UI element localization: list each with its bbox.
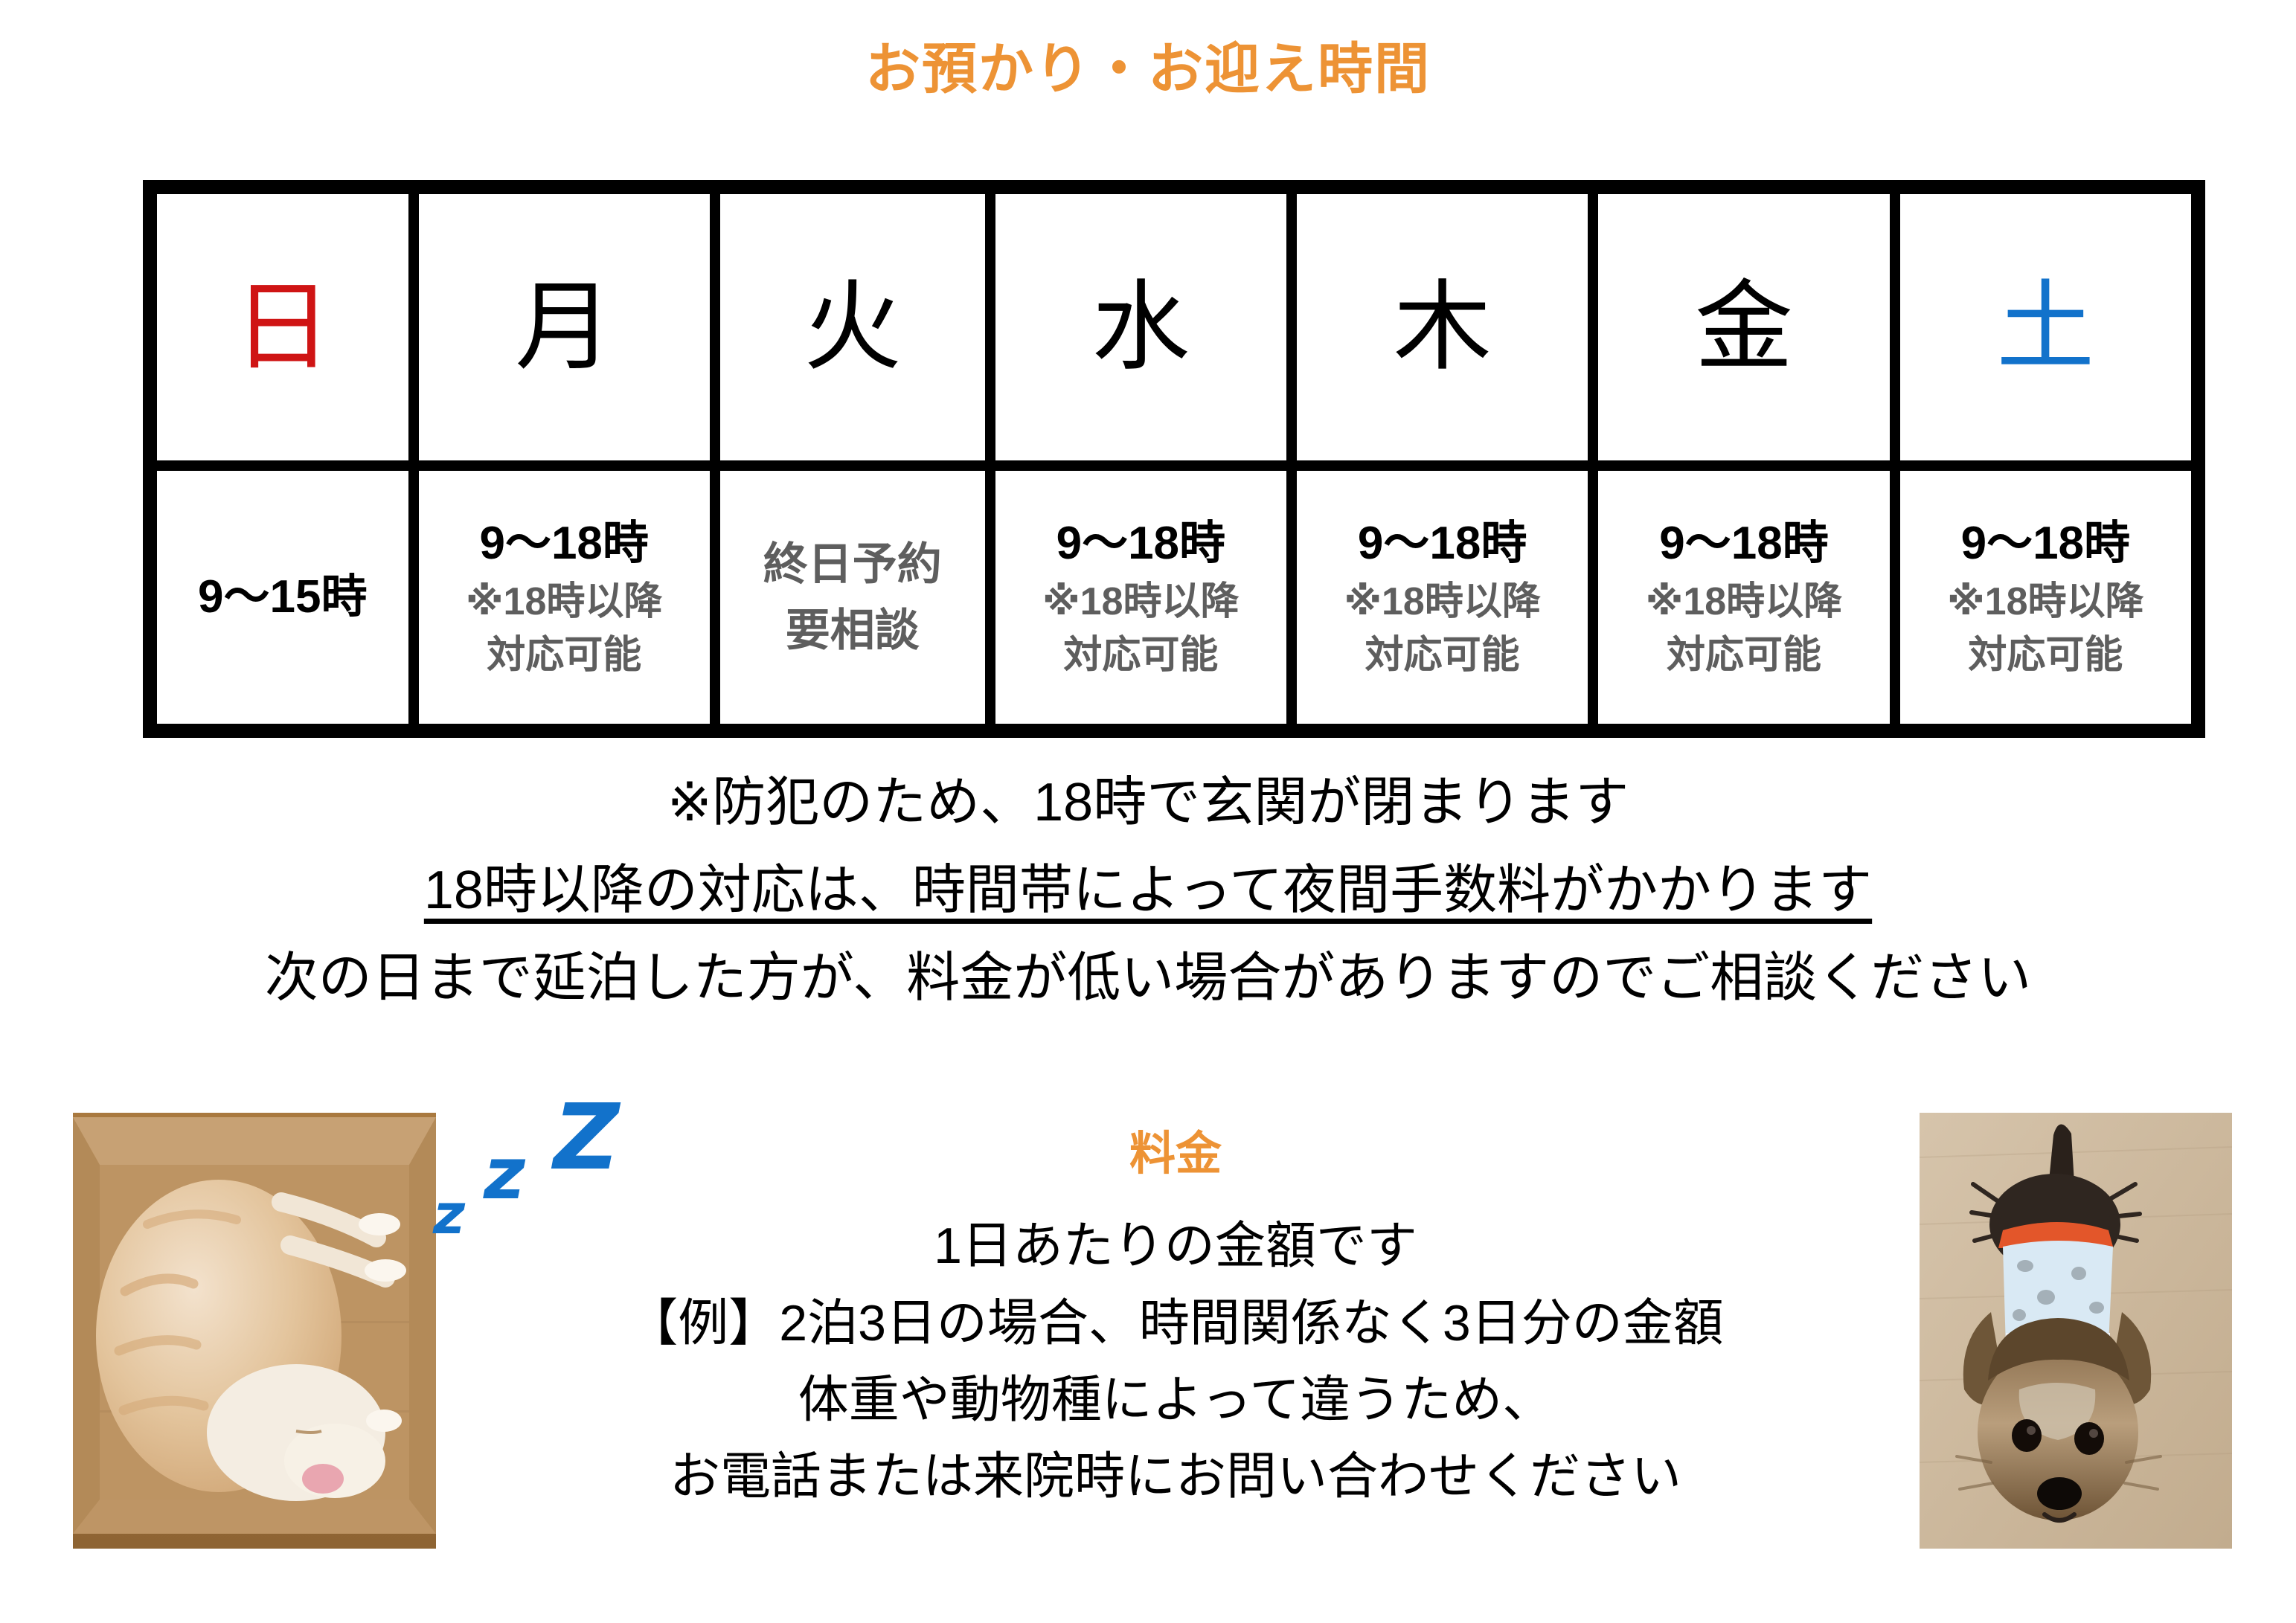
fee-line-contact: お電話または来院時にお問い合わせください <box>476 1439 1875 1515</box>
hours-sub-mon-2: 対応可能 <box>487 632 641 679</box>
hours-cell-fri: 9〜18時 ※18時以降 対応可能 <box>1593 466 1894 729</box>
day-cell-thu: 木 <box>1292 189 1593 466</box>
hours-main-sun: 9〜15時 <box>198 569 367 626</box>
hours-sub-sat-1: ※18時以降 <box>1947 579 2143 626</box>
hours-sub-mon-1: ※18時以降 <box>466 579 662 626</box>
day-label-sun: 日 <box>157 278 408 376</box>
hours-cell-thu: 9〜18時 ※18時以降 対応可能 <box>1292 466 1593 729</box>
zzz-letter-small: z <box>433 1187 465 1242</box>
hours-sub-fri-2: 対応可能 <box>1667 632 1821 679</box>
page-title: お預かり・お迎え時間 <box>0 39 2296 99</box>
day-cell-wed: 水 <box>990 189 1292 466</box>
table-row-days: 日 月 火 水 木 金 土 <box>152 189 2196 466</box>
day-label-mon: 月 <box>419 278 710 376</box>
hours-cell-mon: 9〜18時 ※18時以降 対応可能 <box>414 466 715 729</box>
fee-line-varies: 体重や動物種によって違うため、 <box>476 1362 1875 1439</box>
hours-cell-sun: 9〜15時 <box>152 466 414 729</box>
day-label-sat: 土 <box>1900 278 2191 376</box>
note-line-security: ※防犯のため、18時で玄関が閉まります <box>0 759 2296 846</box>
day-cell-sun: 日 <box>152 189 414 466</box>
day-cell-fri: 金 <box>1593 189 1894 466</box>
note-line-nightfee: 18時以降の対応は、時間帯によって夜間手数料がかかります <box>0 846 2296 934</box>
hours-cell-sat: 9〜18時 ※18時以降 対応可能 <box>1895 466 2196 729</box>
hours-main-sat: 9〜18時 <box>1961 515 2130 572</box>
yorkshire-terrier-illustration: PEANUTS <box>1920 1113 2232 1549</box>
fee-line-perday: 1日あたりの金額です <box>476 1208 1875 1285</box>
notes-block: ※防犯のため、18時で玄関が閉まります 18時以降の対応は、時間帯によって夜間手… <box>0 759 2296 1022</box>
note-line-extend: 次の日まで延泊した方が、料金が低い場合がありますのでご相談ください <box>0 934 2296 1022</box>
hours-main-wed: 9〜18時 <box>1056 515 1225 572</box>
fee-line-example: 【例】2泊3日の場合、時間関係なく3日分の金額 <box>476 1285 1875 1362</box>
hours-cell-tue: 終日予約 要相談 <box>715 466 990 729</box>
table-row-hours: 9〜15時 9〜18時 ※18時以降 対応可能 終日予約 要相談 9〜18時 ※… <box>152 466 2196 729</box>
cat-in-box-illustration <box>73 1113 436 1549</box>
day-label-tue: 火 <box>720 278 985 376</box>
hours-note-tue-1: 終日予約 <box>763 537 942 591</box>
day-label-wed: 水 <box>995 278 1286 376</box>
hours-main-mon: 9〜18時 <box>479 515 648 572</box>
fee-heading: 料金 <box>476 1129 1875 1180</box>
hours-cell-wed: 9〜18時 ※18時以降 対応可能 <box>990 466 1292 729</box>
hours-main-thu: 9〜18時 <box>1358 515 1527 572</box>
hours-sub-wed-1: ※18時以降 <box>1042 579 1239 626</box>
cat-photo <box>73 1113 436 1549</box>
dog-photo: PEANUTS <box>1920 1113 2232 1549</box>
day-cell-sat: 土 <box>1895 189 2196 466</box>
hours-note-tue-2: 要相談 <box>786 603 920 658</box>
day-cell-tue: 火 <box>715 189 990 466</box>
hours-sub-thu-1: ※18時以降 <box>1344 579 1540 626</box>
fee-block: 料金 1日あたりの金額です 【例】2泊3日の場合、時間関係なく3日分の金額 体重… <box>476 1129 1875 1516</box>
day-label-thu: 木 <box>1297 278 1588 376</box>
day-cell-mon: 月 <box>414 189 715 466</box>
schedule-table: 日 月 火 水 木 金 土 9〜15時 9〜18時 ※18時以降 <box>143 180 2205 738</box>
hours-sub-wed-2: 対応可能 <box>1063 632 1218 679</box>
hours-main-fri: 9〜18時 <box>1659 515 1828 572</box>
hours-sub-thu-2: 対応可能 <box>1365 632 1520 679</box>
hours-sub-fri-1: ※18時以降 <box>1646 579 1842 626</box>
day-label-fri: 金 <box>1598 278 1889 376</box>
hours-sub-sat-2: 対応可能 <box>1968 632 2123 679</box>
